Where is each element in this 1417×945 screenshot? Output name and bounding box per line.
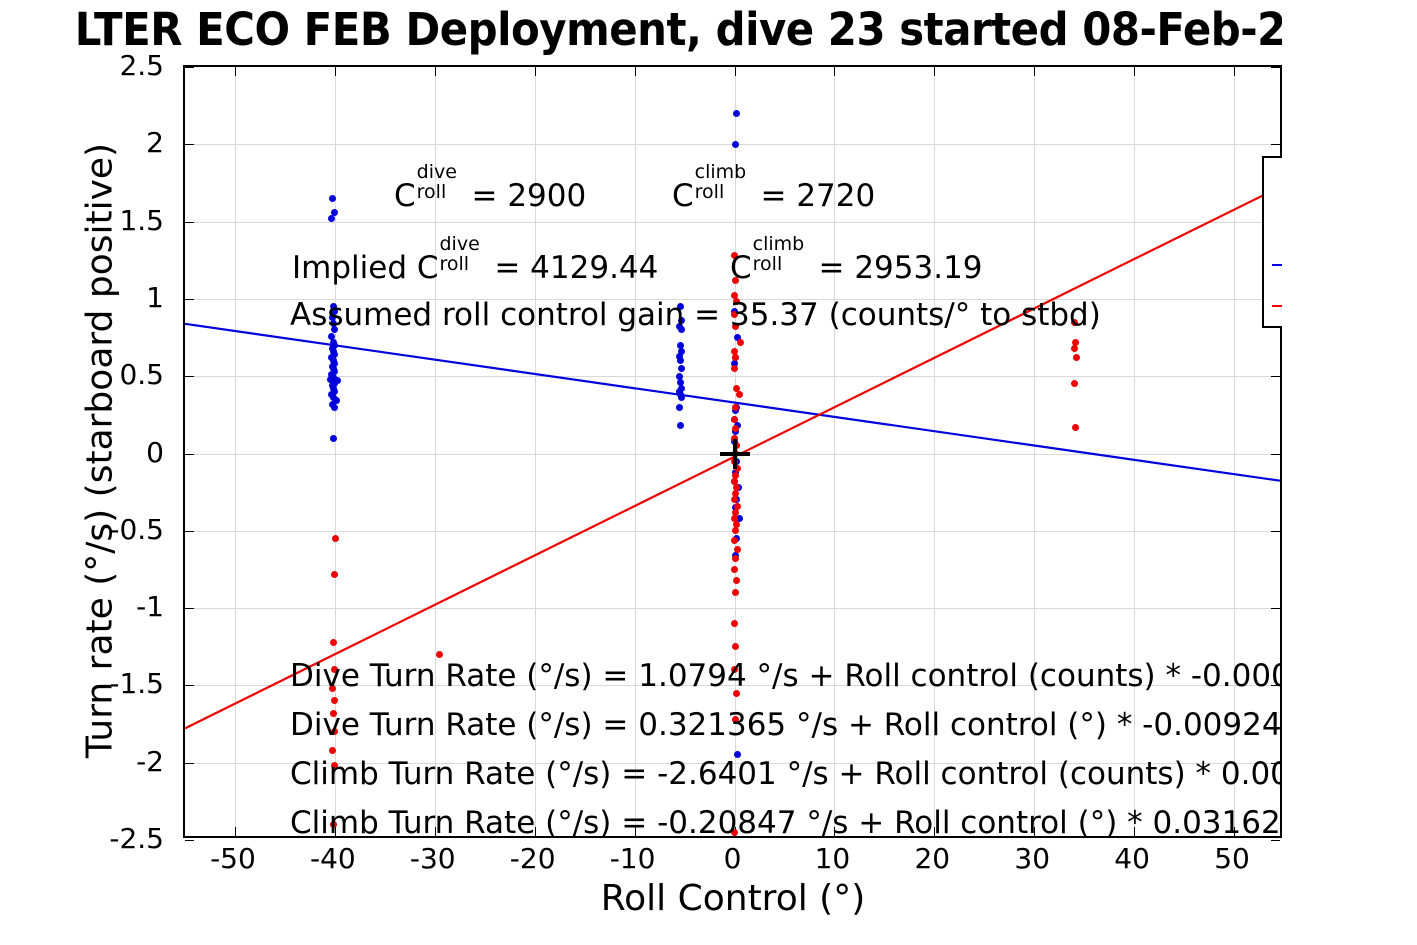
legend-item-climb[interactable]: Climb bbox=[1270, 203, 1417, 244]
annotation-implied-climb: Cclimbroll = 2953.19 bbox=[730, 247, 983, 284]
legend-label: Climb bbox=[1328, 209, 1413, 238]
y-tick bbox=[185, 840, 194, 841]
y-tick-label: -1 bbox=[14, 590, 164, 623]
data-point-climb bbox=[330, 639, 337, 646]
y-tick-label: 2.5 bbox=[14, 49, 164, 82]
legend-item-dive[interactable]: Dive bbox=[1270, 162, 1417, 203]
legend-item-data1[interactable]: data1 bbox=[1270, 244, 1417, 285]
y-tick-label: 0 bbox=[14, 436, 164, 469]
legend-label: data2 bbox=[1328, 291, 1414, 320]
legend-marker-icon bbox=[1270, 220, 1328, 227]
y-tick-label: -1.5 bbox=[14, 667, 164, 700]
data-point-climb bbox=[731, 416, 738, 423]
plot-area: Cdiveroll = 2900 Cclimbroll = 2720 Impli… bbox=[183, 65, 1282, 838]
x-axis-label: Roll Control (°) bbox=[183, 878, 1283, 919]
chart-title: LTER ECO FEB Deployment, dive 23 started… bbox=[0, 2, 1417, 58]
y-tick-label: 2 bbox=[14, 126, 164, 159]
y-tick-label: 1 bbox=[14, 281, 164, 314]
legend-label: Dive bbox=[1328, 168, 1395, 197]
data-point-climb bbox=[1073, 354, 1080, 361]
data-point-climb bbox=[731, 566, 738, 573]
data-point-climb bbox=[731, 365, 738, 372]
annotation-implied-dive: Implied Cdiveroll = 4129.44 bbox=[292, 247, 658, 284]
legend-item-data2[interactable]: data2 bbox=[1270, 285, 1417, 326]
data-point-climb bbox=[731, 620, 738, 627]
legend-label: data1 bbox=[1328, 250, 1414, 279]
legend-marker-icon bbox=[1270, 179, 1328, 186]
annotation-c-dive: Cdiveroll = 2900 bbox=[394, 175, 586, 212]
data-point-climb bbox=[1071, 345, 1078, 352]
data-point-dive bbox=[330, 435, 337, 442]
data-point-climb bbox=[733, 577, 740, 584]
data-point-climb bbox=[1072, 424, 1079, 431]
data-point-climb bbox=[731, 537, 738, 544]
data-point-dive bbox=[733, 110, 740, 117]
data-point-dive bbox=[676, 404, 683, 411]
legend-marker-icon bbox=[1270, 264, 1328, 266]
annotation-roll-gain: Assumed roll control gain = 35.37 (count… bbox=[290, 300, 1101, 331]
y-tick-label: -2 bbox=[14, 745, 164, 778]
data-point-climb bbox=[737, 339, 744, 346]
equation-climb-counts: Climb Turn Rate (°/s) = -2.6401 °/s + Ro… bbox=[290, 759, 1389, 790]
equation-climb-degrees: Climb Turn Rate (°/s) = -0.20847 °/s + R… bbox=[290, 808, 1320, 839]
data-point-dive bbox=[732, 141, 739, 148]
x-tick-label: 50 bbox=[1172, 842, 1292, 875]
data-point-dive bbox=[678, 365, 685, 372]
data-point-climb bbox=[732, 404, 739, 411]
y-tick-label: 1.5 bbox=[14, 204, 164, 237]
origin-crosshair-marker bbox=[720, 439, 750, 469]
data-point-climb bbox=[331, 571, 338, 578]
annotation-c-climb: Cclimbroll = 2720 bbox=[672, 175, 875, 212]
equation-dive-counts: Dive Turn Rate (°/s) = 1.0794 °/s + Roll… bbox=[290, 661, 1389, 692]
chart-legend: DiveClimbdata1data2 bbox=[1262, 156, 1417, 328]
y-tick-label: -2.5 bbox=[14, 822, 164, 855]
equation-dive-degrees: Dive Turn Rate (°/s) = 0.321365 °/s + Ro… bbox=[290, 710, 1321, 741]
y-tick-label: 0.5 bbox=[14, 358, 164, 391]
y-tick-label: -0.5 bbox=[14, 513, 164, 546]
legend-marker-icon bbox=[1270, 305, 1328, 307]
data-point-climb bbox=[734, 546, 741, 553]
data-point-dive bbox=[331, 404, 338, 411]
